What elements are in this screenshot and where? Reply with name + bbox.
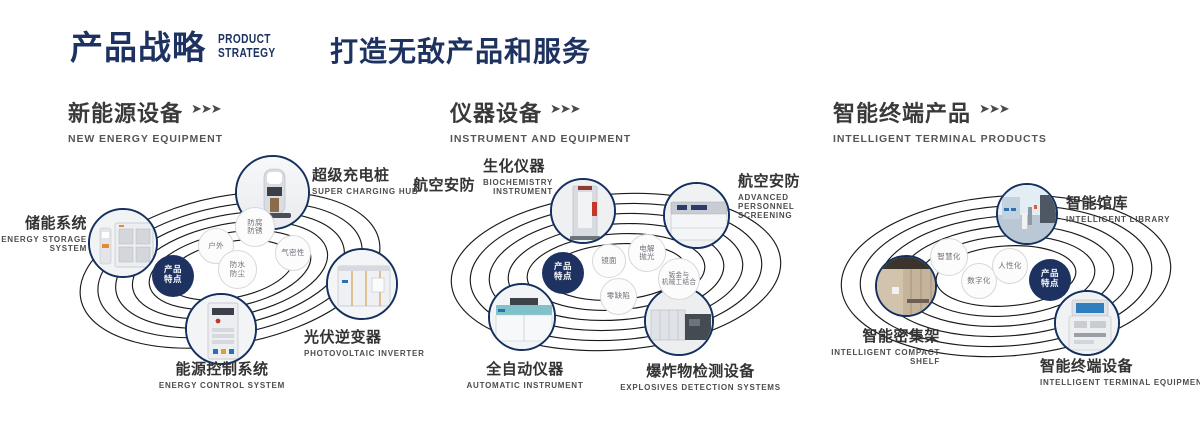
label-super-charging-hub: 超级充电桩 SUPER CHARGING HUB — [312, 164, 418, 196]
node-label-en: ENERGY STORAGE SYSTEM — [0, 235, 87, 253]
node-biochemistry-instrument[interactable] — [550, 178, 616, 244]
node-label-cn: 储能系统 — [0, 212, 87, 233]
product-photo — [490, 285, 554, 349]
product-photo — [1056, 292, 1118, 354]
product-photo — [877, 257, 935, 315]
node-photovoltaic-inverter[interactable] — [326, 248, 398, 320]
chevron-triple-icon: ➤➤➤ — [550, 101, 580, 117]
node-automatic-instrument[interactable] — [488, 283, 556, 351]
node-label-en: INTELLIGENT COMPACT SHELF — [770, 348, 940, 366]
node-intelligent-terminal-equipment[interactable] — [1054, 290, 1120, 356]
section-title-cn: 智能终端产品 — [833, 96, 971, 128]
product-photo — [665, 184, 728, 247]
feature-label: 气密性 — [281, 249, 304, 257]
product-photo — [552, 180, 614, 242]
product-photo — [187, 295, 255, 363]
self-service-kiosk-illustration — [1056, 292, 1120, 356]
label-aviation-security-left: 航空安防 — [413, 174, 475, 195]
feature-label: 防腐 防锈 — [247, 219, 263, 236]
chevron-triple-icon: ➤➤➤ — [191, 101, 221, 117]
feature-bubble-sheetmetal-machining: 钣金与 机械工结合 — [658, 258, 700, 300]
node-label-en: INTELLIGENT TERMINAL EQUIPMENT — [1040, 378, 1200, 387]
feature-bubble-zero-defect: 零缺陷 — [600, 278, 637, 315]
label-intelligent-terminal-equipment: 智能终端设备 INTELLIGENT TERMINAL EQUIPMENT — [1040, 355, 1200, 387]
feature-label: 人性化 — [998, 262, 1021, 270]
node-label-cn: 智能密集架 — [770, 325, 940, 346]
product-photo — [90, 210, 156, 276]
feature-bubble-smart: 智慧化 — [930, 238, 968, 276]
label-intelligent-library: 智能馆库 INTELLIGENT LIBRARY — [1066, 192, 1170, 224]
node-advanced-personnel-screening[interactable] — [663, 182, 730, 249]
label-biochemistry-instrument: 生化仪器 BIOCHEMISTRY INSTRUMENT — [483, 155, 553, 196]
compact-shelf-illustration — [877, 257, 937, 317]
page-subtitle: 打造无敌产品和服务 — [330, 30, 591, 70]
cluster-new-energy: 超级充电桩 SUPER CHARGING HUB 储能系统 — [40, 150, 420, 400]
inverter-cabinet-illustration — [328, 250, 398, 320]
node-label-cn: 能源控制系统 — [82, 358, 362, 379]
section-title-cn: 仪器设备 — [450, 96, 542, 128]
node-label-cn: 超级充电桩 — [312, 164, 418, 185]
cluster-intelligent-terminal: 智能馆库 INTELLIGENT LIBRARY 智能密集架 INTEL — [810, 150, 1200, 400]
screening-machine-illustration — [665, 184, 730, 249]
section-heading-new-energy: 新能源设备➤➤➤ NEW ENERGY EQUIPMENT — [68, 96, 223, 145]
library-interior-illustration — [998, 185, 1058, 245]
node-label-en: PHOTOVOLTAIC INVERTER — [304, 349, 425, 358]
page-title-en-line1: PRODUCT — [218, 32, 276, 46]
label-photovoltaic-inverter: 光伏逆变器 PHOTOVOLTAIC INVERTER — [304, 326, 425, 358]
feature-label: 零缺陷 — [607, 292, 630, 300]
product-strategy-infographic: 产品战略 PRODUCT STRATEGY 打造无敌产品和服务 新能源设备➤➤➤… — [0, 0, 1200, 422]
feature-core-bubble: 产品 特点 — [1029, 259, 1071, 301]
node-label-cn: 航空安防 — [413, 174, 475, 195]
section-heading-intelligent: 智能终端产品➤➤➤ INTELLIGENT TERMINAL PRODUCTS — [833, 96, 1047, 145]
node-label-cn: 光伏逆变器 — [304, 326, 425, 347]
feature-label: 户外 — [208, 242, 224, 250]
feature-bubble-electropolishing: 电解 抛光 — [628, 234, 666, 272]
node-label-en: ENERGY CONTROL SYSTEM — [82, 381, 362, 390]
core-line2: 特点 — [1041, 280, 1059, 290]
feature-label: 电解 抛光 — [639, 245, 655, 262]
node-label-en: EXPLOSIVES DETECTION SYSTEMS — [583, 383, 818, 392]
feature-label: 镜面 — [601, 257, 617, 265]
feature-bubble-anticorrosion: 防腐 防锈 — [235, 207, 275, 247]
node-label-en: BIOCHEMISTRY INSTRUMENT — [483, 178, 553, 196]
node-label-cn: 智能馆库 — [1066, 192, 1170, 213]
label-energy-storage-system: 储能系统 ENERGY STORAGE SYSTEM — [0, 212, 87, 253]
cluster-instruments: 生化仪器 BIOCHEMISTRY INSTRUMENT 航空安防 航空安防 A… — [420, 150, 810, 400]
analyzer-illustration — [490, 285, 556, 351]
label-intelligent-compact-shelf: 智能密集架 INTELLIGENT COMPACT SHELF — [770, 325, 940, 366]
storage-cabinet-illustration — [90, 210, 158, 278]
node-intelligent-library[interactable] — [996, 183, 1058, 245]
chevron-triple-icon: ➤➤➤ — [979, 101, 1009, 117]
label-energy-control-system: 能源控制系统 ENERGY CONTROL SYSTEM — [82, 358, 362, 390]
label-advanced-personnel-screening: 航空安防 ADVANCED PERSONNEL SCREENING — [738, 170, 810, 220]
section-title-en: INTELLIGENT TERMINAL PRODUCTS — [833, 133, 1047, 145]
node-intelligent-compact-shelf[interactable] — [875, 255, 937, 317]
node-label-cn: 生化仪器 — [483, 155, 553, 176]
product-photo — [998, 185, 1056, 243]
feature-bubble-humanized: 人性化 — [992, 248, 1028, 284]
feature-core-bubble: 产品 特点 — [152, 255, 194, 297]
control-cabinet-illustration — [187, 295, 257, 365]
node-label-cn: 航空安防 — [738, 170, 810, 191]
node-label-en: INTELLIGENT LIBRARY — [1066, 215, 1170, 224]
page-header: 产品战略 PRODUCT STRATEGY 打造无敌产品和服务 — [0, 0, 1200, 86]
page-title-cn: 产品战略 — [70, 28, 206, 68]
section-title-en: INSTRUMENT AND EQUIPMENT — [450, 133, 631, 145]
security-gate-illustration — [552, 180, 616, 244]
node-energy-storage-system[interactable] — [88, 208, 158, 278]
feature-bubble-mirror-finish: 镜面 — [592, 244, 626, 278]
section-title-en: NEW ENERGY EQUIPMENT — [68, 133, 223, 145]
section-heading-instrument: 仪器设备➤➤➤ INSTRUMENT AND EQUIPMENT — [450, 96, 631, 145]
core-line2: 特点 — [554, 273, 572, 283]
page-title-en-line2: STRATEGY — [218, 46, 276, 60]
feature-label: 防水 防尘 — [230, 261, 246, 278]
feature-core-bubble: 产品 特点 — [542, 252, 584, 294]
feature-label: 钣金与 机械工结合 — [662, 272, 696, 287]
feature-bubble-waterproof: 防水 防尘 — [218, 250, 257, 289]
node-label-cn: 智能终端设备 — [1040, 355, 1200, 376]
feature-label: 智慧化 — [937, 253, 960, 261]
section-title-cn: 新能源设备 — [68, 96, 183, 128]
feature-label: 数字化 — [967, 277, 990, 285]
product-photo — [328, 250, 396, 318]
node-label-en: SUPER CHARGING HUB — [312, 187, 418, 196]
node-energy-control-system[interactable] — [185, 293, 257, 365]
feature-bubble-airtight: 气密性 — [275, 235, 311, 271]
node-label-en: ADVANCED PERSONNEL SCREENING — [738, 193, 810, 220]
core-line2: 特点 — [164, 276, 182, 286]
page-title-en: PRODUCT STRATEGY — [218, 32, 276, 60]
